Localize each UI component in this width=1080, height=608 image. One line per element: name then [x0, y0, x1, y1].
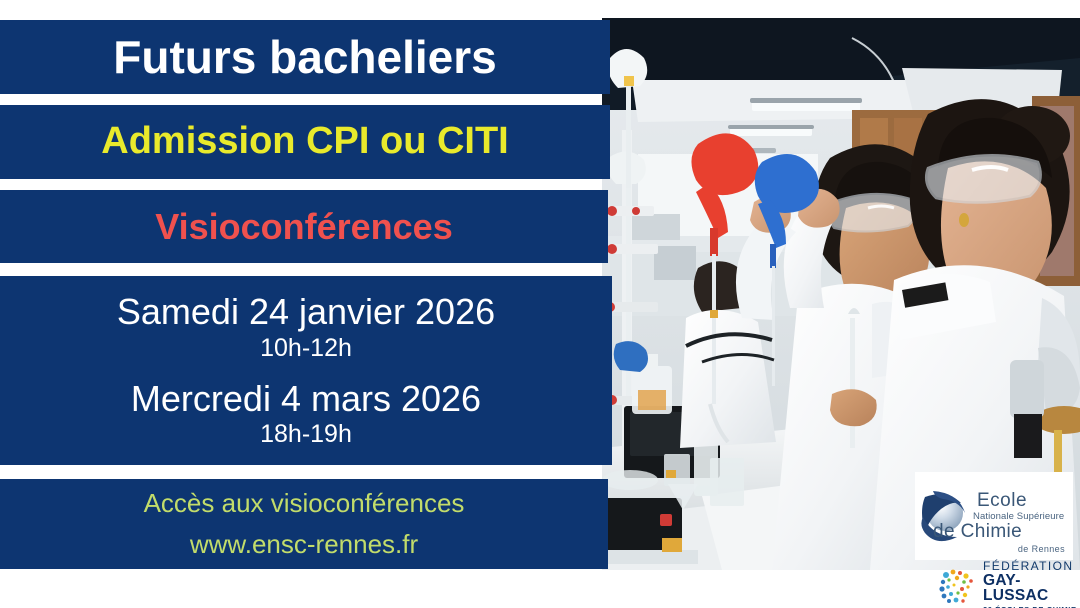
gl-line-name: GAY-LUSSAC — [983, 573, 1080, 604]
gay-lussac-wordmark: FÉDÉRATION GAY-LUSSAC 20 ÉCOLES DE CHIMI… — [983, 559, 1080, 608]
session-1: Samedi 24 janvier 2026 10h-12h — [117, 292, 495, 362]
logo-ensc-rennes[interactable]: Ecole Nationale Supérieure de Chimie de … — [915, 472, 1073, 560]
gay-lussac-dots-icon — [938, 567, 978, 605]
ensc-line-ecole: Ecole — [977, 490, 1027, 512]
logo-federation-gay-lussac[interactable]: FÉDÉRATION GAY-LUSSAC 20 ÉCOLES DE CHIMI… — [938, 566, 1080, 606]
session-2-date: Mercredi 4 mars 2026 — [131, 379, 481, 419]
ensc-line-de-chimie: de Chimie — [933, 521, 1022, 543]
visioconferences-label: Visioconférences — [155, 208, 452, 246]
band-admission: Admission CPI ou CITI — [0, 105, 610, 179]
band-title: Futurs bacheliers — [0, 20, 610, 94]
gl-line-federation: FÉDÉRATION — [983, 560, 1080, 572]
band-access: Accès aux visioconférences www.ensc-renn… — [0, 479, 608, 569]
page-title: Futurs bacheliers — [113, 33, 496, 81]
band-visioconferences: Visioconférences — [0, 190, 608, 263]
access-label: Accès aux visioconférences — [144, 486, 465, 521]
ensc-line-de-rennes: de Rennes — [1018, 544, 1065, 554]
band-sessions: Samedi 24 janvier 2026 10h-12h Mercredi … — [0, 276, 612, 465]
session-1-date: Samedi 24 janvier 2026 — [117, 292, 495, 332]
poster-root: Futurs bacheliers Admission CPI ou CITI … — [0, 0, 1080, 608]
ensc-wordmark: Ecole Nationale Supérieure de Chimie de … — [967, 476, 1067, 556]
admission-label: Admission CPI ou CITI — [101, 122, 508, 162]
session-2-hours: 18h-19h — [131, 420, 481, 449]
session-2: Mercredi 4 mars 2026 18h-19h — [131, 379, 481, 449]
session-1-hours: 10h-12h — [117, 334, 495, 363]
website-url-link[interactable]: www.ensc-rennes.fr — [190, 527, 418, 562]
